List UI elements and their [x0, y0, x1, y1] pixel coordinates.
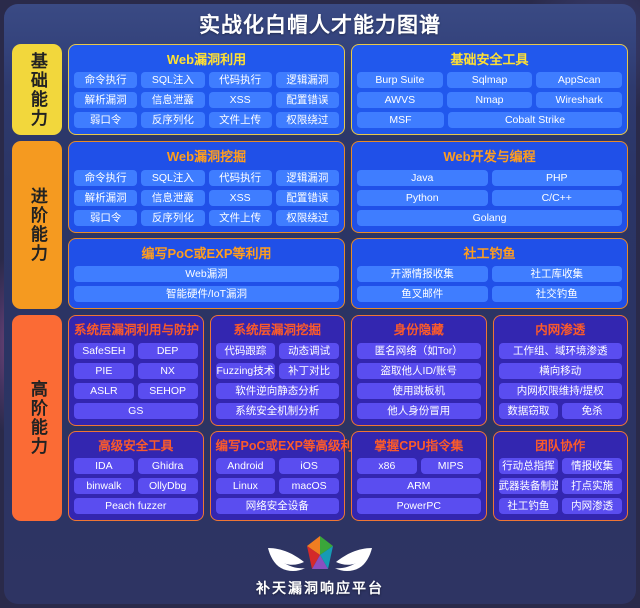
page-title: 实战化白帽人才能力图谱: [199, 9, 441, 39]
pill-group: 命令执行SQL注入代码执行逻辑漏洞解析漏洞信息泄露XSS配置错误弱口令反序列化文…: [74, 170, 339, 226]
footer-brand: 补天漏洞响应平台: [256, 578, 384, 598]
pill-row: 社工钓鱼内网渗透: [499, 498, 623, 514]
tier-2: 进阶能力Web漏洞挖掘命令执行SQL注入代码执行逻辑漏洞解析漏洞信息泄露XSS配…: [12, 141, 628, 309]
skill-pill[interactable]: Sqlmap: [447, 72, 533, 88]
skill-pill[interactable]: 社交钓鱼: [492, 286, 623, 302]
pill-row: 软件逆向静态分析: [216, 383, 340, 399]
card-title: 系统层漏洞挖掘: [216, 321, 340, 343]
skill-pill[interactable]: PHP: [492, 170, 623, 186]
card-title: 掌握CPU指令集: [357, 437, 481, 459]
pill-row: PythonC/C++: [357, 190, 622, 206]
skill-pill[interactable]: C/C++: [492, 190, 623, 206]
skill-pill[interactable]: Python: [357, 190, 488, 206]
capability-card[interactable]: 内网渗透工作组、域环境渗透横向移动内网权限维持/提权数据窃取免杀: [493, 315, 629, 426]
card-title: 团队协作: [499, 437, 623, 459]
pill-group: IDAGhidrabinwalkOllyDbgPeach fuzzer: [74, 458, 198, 514]
card-title: 内网渗透: [499, 321, 623, 343]
capability-card[interactable]: 掌握CPU指令集x86MIPSARMPowerPC: [351, 431, 487, 522]
card-title: 编写PoC或EXP等利用: [74, 244, 339, 266]
pill-row: 弱口令反序列化文件上传权限绕过: [74, 210, 339, 226]
pill-group: 代码跟踪动态调试Fuzzing技术补丁对比软件逆向静态分析系统安全机制分析: [216, 343, 340, 419]
pill-row: 代码跟踪动态调试: [216, 343, 340, 359]
skill-pill[interactable]: Linux: [216, 478, 276, 494]
skill-pill[interactable]: IDA: [74, 458, 134, 474]
winged-star-logo: [264, 534, 376, 576]
pill-row: x86MIPS: [357, 458, 481, 474]
skill-pill[interactable]: 社工库收集: [492, 266, 623, 282]
skill-pill[interactable]: DEP: [138, 343, 198, 359]
capability-card[interactable]: 高级安全工具IDAGhidrabinwalkOllyDbgPeach fuzze…: [68, 431, 204, 522]
skill-pill[interactable]: 逻辑漏洞: [276, 72, 339, 88]
pill-group: 匿名网络（如Tor）盗取他人ID/账号使用跳板机他人身份冒用: [357, 343, 481, 419]
skill-pill[interactable]: Web漏洞: [74, 266, 339, 282]
skill-pill[interactable]: Android: [216, 458, 276, 474]
skill-pill[interactable]: 社工钓鱼: [499, 498, 559, 514]
pill-row: 弱口令反序列化文件上传权限绕过: [74, 112, 339, 128]
pill-row: PIENX: [74, 363, 198, 379]
skill-pill[interactable]: 行动总指挥: [499, 458, 559, 474]
skill-pill[interactable]: 智能硬件/IoT漏洞: [74, 286, 339, 302]
card-row: Web漏洞挖掘命令执行SQL注入代码执行逻辑漏洞解析漏洞信息泄露XSS配置错误弱…: [68, 141, 628, 232]
card-title: 高级安全工具: [74, 437, 198, 459]
capability-card[interactable]: Web漏洞利用命令执行SQL注入代码执行逻辑漏洞解析漏洞信息泄露XSS配置错误弱…: [68, 44, 345, 135]
skill-pill[interactable]: 免杀: [562, 403, 622, 419]
skill-pill[interactable]: 文件上传: [209, 210, 272, 226]
skill-pill[interactable]: 弱口令: [74, 112, 137, 128]
skill-pill[interactable]: PowerPC: [357, 498, 481, 514]
tier-1: 基础能力Web漏洞利用命令执行SQL注入代码执行逻辑漏洞解析漏洞信息泄露XSS配…: [12, 44, 628, 135]
capability-card[interactable]: 系统层漏洞挖掘代码跟踪动态调试Fuzzing技术补丁对比软件逆向静态分析系统安全…: [210, 315, 346, 426]
infographic-panel: 实战化白帽人才能力图谱 基础能力Web漏洞利用命令执行SQL注入代码执行逻辑漏洞…: [4, 4, 636, 604]
pill-row: 工作组、域环境渗透: [499, 343, 623, 359]
pill-row: 横向移动: [499, 363, 623, 379]
pill-row: 内网权限维持/提权: [499, 383, 623, 399]
skill-pill[interactable]: 补丁对比: [279, 363, 339, 379]
skill-pill[interactable]: MIPS: [421, 458, 481, 474]
skill-pill[interactable]: SEHOP: [138, 383, 198, 399]
skill-pill[interactable]: 解析漏洞: [74, 190, 137, 206]
tier-label: 高阶能力: [12, 315, 62, 522]
capability-card[interactable]: 编写PoC或EXP等利用Web漏洞智能硬件/IoT漏洞: [68, 238, 345, 309]
pill-row: 鱼叉邮件社交钓鱼: [357, 286, 622, 302]
skill-pill[interactable]: 代码执行: [209, 72, 272, 88]
skill-pill[interactable]: Wireshark: [536, 92, 622, 108]
skill-pill[interactable]: 横向移动: [499, 363, 623, 379]
skill-pill[interactable]: 使用跳板机: [357, 383, 481, 399]
skill-pill[interactable]: 弱口令: [74, 210, 137, 226]
pill-row: Web漏洞: [74, 266, 339, 282]
skill-pill[interactable]: 网络安全设备: [216, 498, 340, 514]
skill-pill[interactable]: ARM: [357, 478, 481, 494]
skill-pill[interactable]: 代码跟踪: [216, 343, 276, 359]
pill-row: 网络安全设备: [216, 498, 340, 514]
skill-pill[interactable]: 解析漏洞: [74, 92, 137, 108]
pill-group: 行动总指挥情报收集武器装备制造打点实施社工钓鱼内网渗透: [499, 458, 623, 514]
card-title: 系统层漏洞利用与防护: [74, 321, 198, 343]
pill-group: 开源情报收集社工库收集鱼叉邮件社交钓鱼: [357, 266, 622, 302]
card-title: 社工钓鱼: [357, 244, 622, 266]
skill-pill[interactable]: Nmap: [447, 92, 533, 108]
pill-row: 系统安全机制分析: [216, 403, 340, 419]
skill-pill[interactable]: 工作组、域环境渗透: [499, 343, 623, 359]
card-title: Web开发与编程: [357, 147, 622, 169]
pill-row: 解析漏洞信息泄露XSS配置错误: [74, 92, 339, 108]
tier-list: 基础能力Web漏洞利用命令执行SQL注入代码执行逻辑漏洞解析漏洞信息泄露XSS配…: [4, 44, 636, 521]
skill-pill[interactable]: Java: [357, 170, 488, 186]
skill-pill[interactable]: 信息泄露: [141, 92, 204, 108]
pill-row: 开源情报收集社工库收集: [357, 266, 622, 282]
pill-row: ARM: [357, 478, 481, 494]
pill-row: 行动总指挥情报收集: [499, 458, 623, 474]
pill-row: 命令执行SQL注入代码执行逻辑漏洞: [74, 72, 339, 88]
skill-pill[interactable]: 代码执行: [209, 170, 272, 186]
capability-card[interactable]: 系统层漏洞利用与防护SafeSEHDEPPIENXASLRSEHOPGS: [68, 315, 204, 426]
tier-label: 基础能力: [12, 44, 62, 135]
skill-pill[interactable]: SQL注入: [141, 72, 204, 88]
pill-row: AWVSNmapWireshark: [357, 92, 622, 108]
pill-row: binwalkOllyDbg: [74, 478, 198, 494]
skill-pill[interactable]: MSF: [357, 112, 444, 128]
card-row: 编写PoC或EXP等利用Web漏洞智能硬件/IoT漏洞社工钓鱼开源情报收集社工库…: [68, 238, 628, 309]
skill-pill[interactable]: 配置错误: [276, 92, 339, 108]
skill-pill[interactable]: x86: [357, 458, 417, 474]
pill-row: Golang: [357, 210, 622, 226]
skill-pill[interactable]: 情报收集: [562, 458, 622, 474]
card-title: 基础安全工具: [357, 50, 622, 72]
card-row: 系统层漏洞利用与防护SafeSEHDEPPIENXASLRSEHOPGS系统层漏…: [68, 315, 628, 426]
skill-pill[interactable]: Fuzzing技术: [216, 363, 276, 379]
tier-label-text: 进阶能力: [28, 187, 46, 263]
pill-row: 他人身份冒用: [357, 403, 481, 419]
tier-body: Web漏洞挖掘命令执行SQL注入代码执行逻辑漏洞解析漏洞信息泄露XSS配置错误弱…: [68, 141, 628, 309]
skill-pill[interactable]: OllyDbg: [138, 478, 198, 494]
card-title: 身份隐藏: [357, 321, 481, 343]
pill-row: 使用跳板机: [357, 383, 481, 399]
skill-pill[interactable]: 盗取他人ID/账号: [357, 363, 481, 379]
skill-pill[interactable]: 软件逆向静态分析: [216, 383, 340, 399]
skill-pill[interactable]: NX: [138, 363, 198, 379]
skill-pill[interactable]: 文件上传: [209, 112, 272, 128]
capability-card[interactable]: 身份隐藏匿名网络（如Tor）盗取他人ID/账号使用跳板机他人身份冒用: [351, 315, 487, 426]
tier-label-text: 高阶能力: [28, 380, 46, 456]
pill-row: JavaPHP: [357, 170, 622, 186]
skill-pill[interactable]: Ghidra: [138, 458, 198, 474]
skill-pill[interactable]: macOS: [279, 478, 339, 494]
pill-group: 命令执行SQL注入代码执行逻辑漏洞解析漏洞信息泄露XSS配置错误弱口令反序列化文…: [74, 72, 339, 128]
pill-row: 数据窃取免杀: [499, 403, 623, 419]
tier-label-text: 基础能力: [28, 52, 46, 128]
pill-group: Burp SuiteSqlmapAppScanAWVSNmapWireshark…: [357, 72, 622, 128]
skill-pill[interactable]: 权限绕过: [276, 112, 339, 128]
skill-pill[interactable]: GS: [74, 403, 198, 419]
tier-body: 系统层漏洞利用与防护SafeSEHDEPPIENXASLRSEHOPGS系统层漏…: [68, 315, 628, 522]
skill-pill[interactable]: SQL注入: [141, 170, 204, 186]
tier-label: 进阶能力: [12, 141, 62, 309]
pill-row: SafeSEHDEP: [74, 343, 198, 359]
capability-card[interactable]: 编写PoC或EXP等高级利用AndroidiOSLinuxmacOS网络安全设备: [210, 431, 346, 522]
skill-pill[interactable]: 武器装备制造: [499, 478, 559, 494]
pill-row: IDAGhidra: [74, 458, 198, 474]
pill-row: 武器装备制造打点实施: [499, 478, 623, 494]
skill-pill[interactable]: 配置错误: [276, 190, 339, 206]
card-title: Web漏洞挖掘: [74, 147, 339, 169]
skill-pill[interactable]: 内网渗透: [562, 498, 622, 514]
pill-row: 智能硬件/IoT漏洞: [74, 286, 339, 302]
pill-row: ASLRSEHOP: [74, 383, 198, 399]
skill-pill[interactable]: 内网权限维持/提权: [499, 383, 623, 399]
pill-row: MSFCobalt Strike: [357, 112, 622, 128]
skill-pill[interactable]: 逻辑漏洞: [276, 170, 339, 186]
skill-pill[interactable]: 开源情报收集: [357, 266, 488, 282]
capability-card[interactable]: Web开发与编程JavaPHPPythonC/C++Golang: [351, 141, 628, 232]
skill-pill[interactable]: iOS: [279, 458, 339, 474]
pill-row: Burp SuiteSqlmapAppScan: [357, 72, 622, 88]
tier-body: Web漏洞利用命令执行SQL注入代码执行逻辑漏洞解析漏洞信息泄露XSS配置错误弱…: [68, 44, 628, 135]
capability-card[interactable]: 团队协作行动总指挥情报收集武器装备制造打点实施社工钓鱼内网渗透: [493, 431, 629, 522]
card-title: 编写PoC或EXP等高级利用: [216, 437, 340, 459]
skill-pill[interactable]: Cobalt Strike: [448, 112, 622, 128]
pill-row: GS: [74, 403, 198, 419]
skill-pill[interactable]: SafeSEH: [74, 343, 134, 359]
skill-pill[interactable]: 反序列化: [141, 112, 204, 128]
skill-pill[interactable]: binwalk: [74, 478, 134, 494]
skill-pill[interactable]: 他人身份冒用: [357, 403, 481, 419]
pill-row: PowerPC: [357, 498, 481, 514]
pill-row: 解析漏洞信息泄露XSS配置错误: [74, 190, 339, 206]
pill-group: Web漏洞智能硬件/IoT漏洞: [74, 266, 339, 302]
skill-pill[interactable]: AWVS: [357, 92, 443, 108]
skill-pill[interactable]: AppScan: [536, 72, 622, 88]
skill-pill[interactable]: Burp Suite: [357, 72, 443, 88]
skill-pill[interactable]: Peach fuzzer: [74, 498, 198, 514]
pill-row: Fuzzing技术补丁对比: [216, 363, 340, 379]
card-title: Web漏洞利用: [74, 50, 339, 72]
pill-group: x86MIPSARMPowerPC: [357, 458, 481, 514]
skill-pill[interactable]: 命令执行: [74, 170, 137, 186]
pill-row: 匿名网络（如Tor）: [357, 343, 481, 359]
skill-pill[interactable]: 动态调试: [279, 343, 339, 359]
pill-row: 命令执行SQL注入代码执行逻辑漏洞: [74, 170, 339, 186]
skill-pill[interactable]: 数据窃取: [499, 403, 559, 419]
pill-row: Peach fuzzer: [74, 498, 198, 514]
skill-pill[interactable]: 匿名网络（如Tor）: [357, 343, 481, 359]
skill-pill[interactable]: Golang: [357, 210, 622, 226]
card-row: 高级安全工具IDAGhidrabinwalkOllyDbgPeach fuzze…: [68, 431, 628, 522]
tier-3: 高阶能力系统层漏洞利用与防护SafeSEHDEPPIENXASLRSEHOPGS…: [12, 315, 628, 522]
skill-pill[interactable]: 系统安全机制分析: [216, 403, 340, 419]
pill-row: LinuxmacOS: [216, 478, 340, 494]
capability-card[interactable]: 基础安全工具Burp SuiteSqlmapAppScanAWVSNmapWir…: [351, 44, 628, 135]
capability-card[interactable]: Web漏洞挖掘命令执行SQL注入代码执行逻辑漏洞解析漏洞信息泄露XSS配置错误弱…: [68, 141, 345, 232]
pill-group: 工作组、域环境渗透横向移动内网权限维持/提权数据窃取免杀: [499, 343, 623, 419]
pill-group: SafeSEHDEPPIENXASLRSEHOPGS: [74, 343, 198, 419]
footer: 补天漏洞响应平台: [4, 534, 636, 598]
skill-pill[interactable]: 反序列化: [141, 210, 204, 226]
pill-row: AndroidiOS: [216, 458, 340, 474]
title-bar: 实战化白帽人才能力图谱: [4, 4, 636, 44]
capability-card[interactable]: 社工钓鱼开源情报收集社工库收集鱼叉邮件社交钓鱼: [351, 238, 628, 309]
card-row: Web漏洞利用命令执行SQL注入代码执行逻辑漏洞解析漏洞信息泄露XSS配置错误弱…: [68, 44, 628, 135]
skill-pill[interactable]: 权限绕过: [276, 210, 339, 226]
skill-pill[interactable]: 打点实施: [562, 478, 622, 494]
pill-row: 盗取他人ID/账号: [357, 363, 481, 379]
skill-pill[interactable]: 信息泄露: [141, 190, 204, 206]
winged-star-logo-icon: [264, 534, 376, 576]
pill-group: JavaPHPPythonC/C++Golang: [357, 170, 622, 226]
skill-pill[interactable]: XSS: [209, 190, 272, 206]
pill-group: AndroidiOSLinuxmacOS网络安全设备: [216, 458, 340, 514]
skill-pill[interactable]: ASLR: [74, 383, 134, 399]
skill-pill[interactable]: PIE: [74, 363, 134, 379]
skill-pill[interactable]: 命令执行: [74, 72, 137, 88]
skill-pill[interactable]: XSS: [209, 92, 272, 108]
skill-pill[interactable]: 鱼叉邮件: [357, 286, 488, 302]
